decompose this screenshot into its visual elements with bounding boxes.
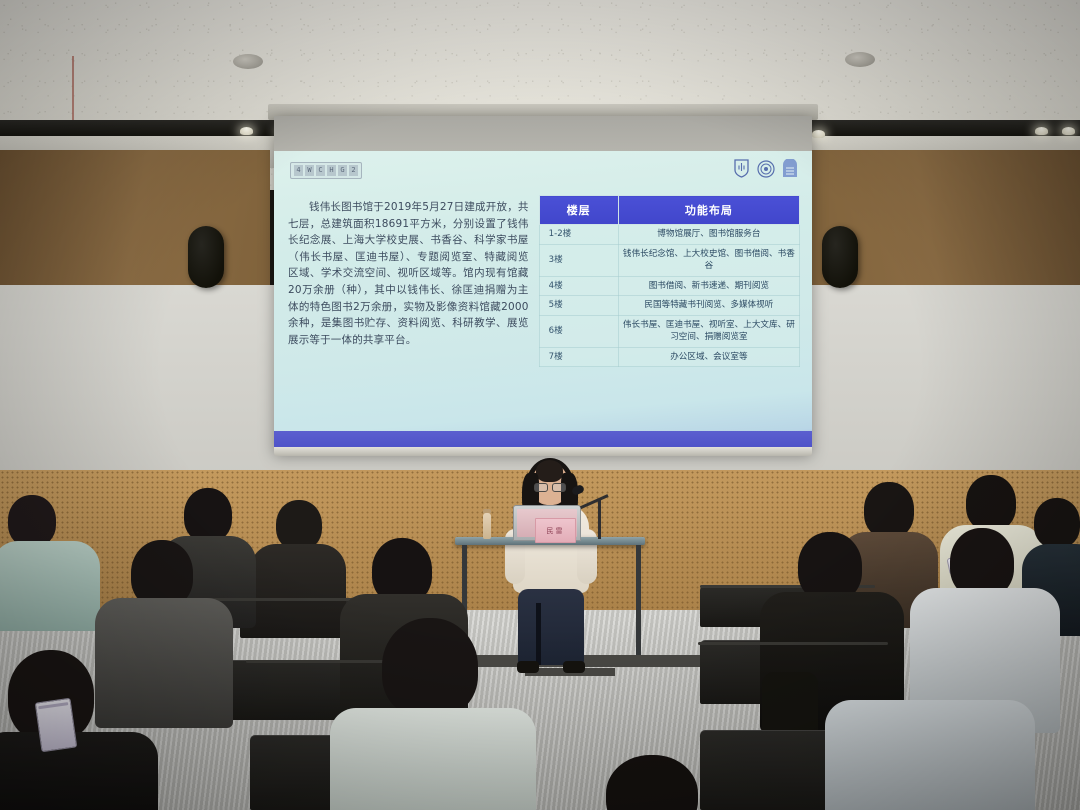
slide-paragraph: 钱伟长图书馆于2019年5月27日建成开放，共七层，总建筑面积18691平方米，… [288, 191, 529, 425]
audience-body [825, 700, 1035, 810]
wall-speaker-left-icon [188, 226, 224, 288]
badge-letter: W [305, 165, 314, 176]
table-row: 4楼 图书借阅、新书速递、期刊阅览 [539, 276, 799, 296]
audience-member [910, 528, 1055, 728]
audience-head [864, 482, 914, 538]
downlight-icon [240, 127, 253, 135]
smartphone[interactable] [35, 698, 78, 753]
floor-function-table: 楼层 功能布局 1-2楼 博物馆展厅、图书馆服务台 3楼 钱伟长纪念 [539, 195, 800, 367]
slide-badge: 4 W C H G 2 [290, 162, 362, 179]
badge-letter: 2 [349, 165, 358, 176]
table-body: 1-2楼 博物馆展厅、图书馆服务台 3楼 钱伟长纪念馆、上大校史馆、图书借阅、书… [539, 225, 799, 367]
name-placard-text: 民雷 [547, 526, 565, 536]
desk-leg [636, 545, 641, 655]
audience-member [330, 618, 530, 810]
lecture-hall-photo: 4 W C H G 2 [0, 0, 1080, 810]
cell-functions: 图书借阅、新书速递、期刊阅览 [618, 276, 799, 296]
badge-letter: 4 [294, 165, 303, 176]
column-header-floor: 楼层 [539, 196, 618, 225]
slide-logos [733, 159, 798, 178]
audience-head [606, 755, 698, 810]
badge-letter: G [338, 165, 347, 176]
cell-floor: 6楼 [539, 315, 618, 347]
name-placard: 民雷 [535, 518, 576, 543]
cell-functions: 伟长书屋、匡迪书屋、视听室、上大文库、研习空间、捐赠阅览室 [618, 315, 799, 347]
audience-head [276, 500, 322, 550]
badge-letter: H [327, 165, 336, 176]
table-header-row: 楼层 功能布局 [539, 196, 799, 225]
audience-body [0, 541, 100, 631]
slide-content: 钱伟长图书馆于2019年5月27日建成开放，共七层，总建筑面积18691平方米，… [288, 191, 800, 425]
seat-rail [698, 642, 888, 645]
library-building-logo [782, 159, 798, 178]
audience-head [184, 488, 232, 542]
projection-screen: 4 W C H G 2 [274, 116, 812, 453]
cell-functions: 民国等特藏书刊阅览、多媒体视听 [618, 296, 799, 316]
presenter-hair-part [536, 460, 563, 482]
cell-functions: 钱伟长纪念馆、上大校史馆、图书借阅、书香谷 [618, 244, 799, 276]
wall-speaker-right-icon [822, 226, 858, 288]
audience-head [966, 475, 1016, 531]
badge-letter: C [316, 165, 325, 176]
audience-body [0, 732, 158, 810]
presentation-slide: 4 W C H G 2 [274, 151, 812, 453]
audience-head [8, 495, 56, 547]
presenter-shoe-right [563, 661, 585, 673]
table-row: 3楼 钱伟长纪念馆、上大校史馆、图书借阅、书香谷 [539, 244, 799, 276]
column-header-functions: 功能布局 [618, 196, 799, 225]
downlight-icon [1035, 127, 1048, 135]
cell-floor: 7楼 [539, 347, 618, 367]
floor-table-wrapper: 楼层 功能布局 1-2楼 博物馆展厅、图书馆服务台 3楼 钱伟长纪念 [539, 191, 800, 425]
audience-member [250, 500, 346, 630]
audience-member [0, 495, 100, 625]
cell-functions: 博物馆展厅、图书馆服务台 [618, 225, 799, 245]
shanghai-university-logo [733, 159, 750, 178]
table-row: 7楼 办公区域、会议室等 [539, 347, 799, 367]
table-row: 1-2楼 博物馆展厅、图书馆服务台 [539, 225, 799, 245]
circular-emblem-logo [757, 160, 775, 178]
screen-unlit-area [274, 116, 812, 151]
microphone-stand [598, 499, 601, 539]
presenter-leg-gap [536, 603, 541, 665]
screen-bottom-bar [274, 447, 812, 456]
cell-floor: 1-2楼 [539, 225, 618, 245]
ceiling-speaker-icon [233, 54, 263, 69]
glasses-icon [534, 483, 566, 490]
cell-functions: 办公区域、会议室等 [618, 347, 799, 367]
audience-member [825, 700, 1025, 810]
audience-body [330, 708, 536, 810]
downlight-icon [1062, 127, 1075, 135]
cell-floor: 3楼 [539, 244, 618, 276]
table-row: 5楼 民国等特藏书刊阅览、多媒体视听 [539, 296, 799, 316]
ceiling-speaker-icon [845, 52, 875, 67]
water-bottle [483, 513, 491, 539]
audience-head [382, 618, 478, 718]
cell-floor: 5楼 [539, 296, 618, 316]
downlight-icon [812, 130, 825, 138]
cell-floor: 4楼 [539, 276, 618, 296]
audience-member [560, 755, 750, 810]
table-row: 6楼 伟长书屋、匡迪书屋、视听室、上大文库、研习空间、捐赠阅览室 [539, 315, 799, 347]
